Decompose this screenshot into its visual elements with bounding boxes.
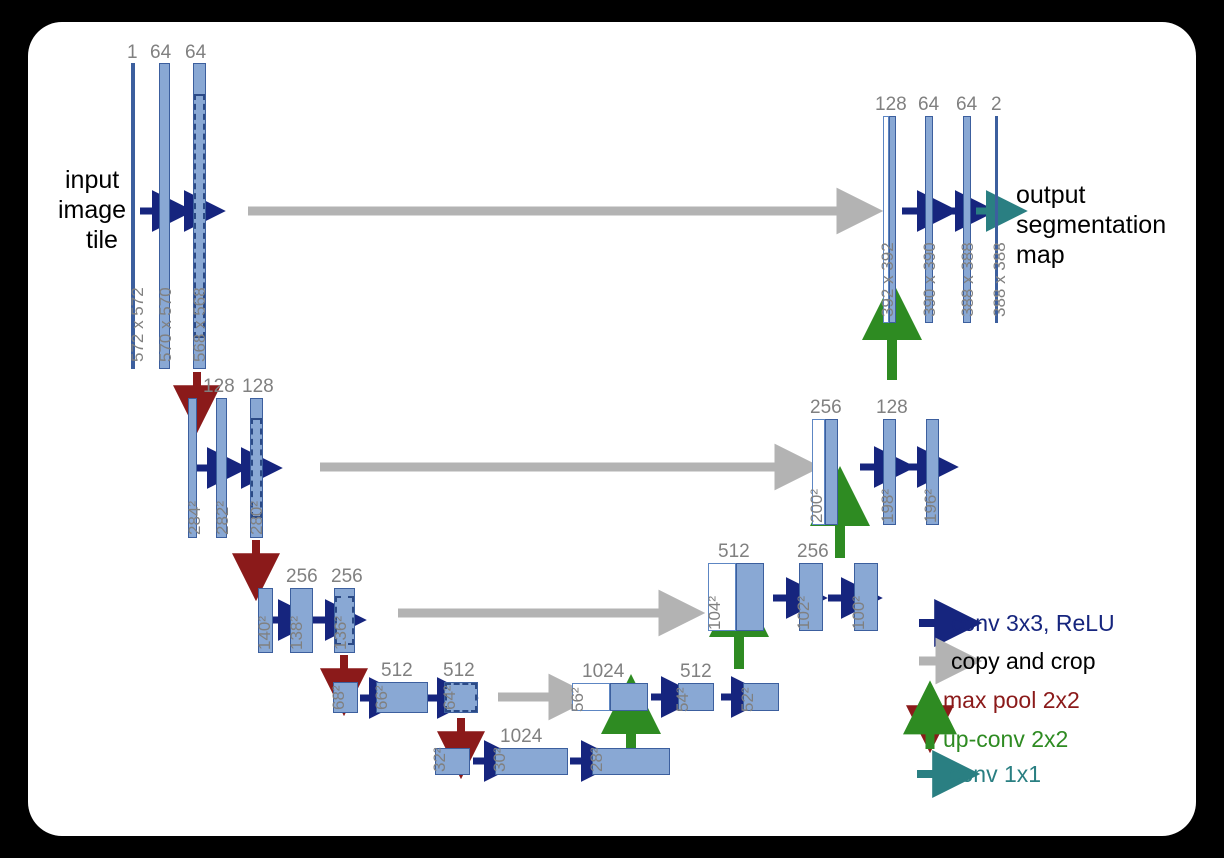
size-label-d2b: 198² <box>879 489 896 523</box>
channel-label-e4c: 512 <box>443 661 475 680</box>
size-label-e5c: 28² <box>588 747 605 772</box>
size-label-d2a: 200² <box>808 489 825 523</box>
channel-label-d1a: 128 <box>875 95 907 114</box>
size-label-e3b: 138² <box>288 616 305 650</box>
size-label-d3a: 104² <box>706 596 723 630</box>
size-label-e1b: 570 x 570 <box>157 287 174 362</box>
size-label-e1a: 572 x 572 <box>129 287 146 362</box>
size-label-e2b: 282² <box>214 501 231 535</box>
size-label-e4c: 64² <box>441 685 458 710</box>
channel-label-e3b: 256 <box>286 567 318 586</box>
channel-label-d2b: 128 <box>876 398 908 417</box>
size-label-d3c: 100² <box>850 596 867 630</box>
channel-label-e3c: 256 <box>331 567 363 586</box>
size-label-e2c: 280² <box>248 501 265 535</box>
size-label-e4b: 66² <box>373 685 390 710</box>
block-d4a-upconv <box>610 683 648 711</box>
block-d3a-upconv <box>736 563 764 631</box>
input-label-line-3: tile <box>86 225 118 255</box>
channel-label-d1c: 64 <box>956 95 977 114</box>
legend-label-conv3x3[interactable]: conv 3x3, ReLU <box>951 612 1115 635</box>
input-label-line-1: input <box>65 165 119 195</box>
output-label-line-1: output <box>1016 180 1086 210</box>
size-label-e2a: 284² <box>186 501 203 535</box>
size-label-d4c: 52² <box>739 687 756 712</box>
legend-label-conv1x1[interactable]: conv 1x1 <box>949 763 1041 786</box>
legend-label-copy-crop[interactable]: copy and crop <box>951 650 1095 673</box>
size-label-e3a: 140² <box>256 616 273 650</box>
output-label-line-2: segmentation <box>1016 210 1166 240</box>
channel-label-e2c: 128 <box>242 377 274 396</box>
block-d2a-upconv <box>825 419 838 525</box>
size-label-d4a: 56² <box>569 687 586 712</box>
channel-label-d4a: 1024 <box>582 662 624 681</box>
channel-label-d1b: 64 <box>918 95 939 114</box>
legend-label-maxpool[interactable]: max pool 2x2 <box>943 689 1080 712</box>
input-label-line-2: image <box>58 195 126 225</box>
size-label-d1d: 388 x 388 <box>991 242 1008 317</box>
size-label-e5b: 30² <box>491 747 508 772</box>
channel-label-e1a: 1 <box>127 43 138 62</box>
channel-label-d1d: 2 <box>991 95 1002 114</box>
size-label-d2c: 196² <box>922 489 939 523</box>
channel-label-e1b: 64 <box>150 43 171 62</box>
size-label-d1b: 390 x 390 <box>921 242 938 317</box>
diagram-canvas: 1 64 64 572 x 572 570 x 570 568 x 568 in… <box>0 0 1224 858</box>
channel-label-d3a: 512 <box>718 542 750 561</box>
size-label-d3b: 102² <box>795 596 812 630</box>
channel-label-d3b: 256 <box>797 542 829 561</box>
channel-label-e1c: 64 <box>185 43 206 62</box>
size-label-e4a: 68² <box>330 685 347 710</box>
size-label-e5a: 32² <box>431 747 448 772</box>
size-label-d4b: 54² <box>674 687 691 712</box>
channel-label-e5b: 1024 <box>500 727 542 746</box>
legend-label-upconv[interactable]: up-conv 2x2 <box>943 728 1068 751</box>
diagram-card: 1 64 64 572 x 572 570 x 570 568 x 568 in… <box>28 22 1196 836</box>
output-label-line-3: map <box>1016 240 1065 270</box>
size-label-e1c: 568 x 568 <box>191 287 208 362</box>
channel-label-d4b: 512 <box>680 662 712 681</box>
channel-label-e2b: 128 <box>203 377 235 396</box>
channel-label-e4b: 512 <box>381 661 413 680</box>
size-label-d1a: 392 x 392 <box>879 242 896 317</box>
channel-label-d2a: 256 <box>810 398 842 417</box>
size-label-e3c: 136² <box>332 616 349 650</box>
size-label-d1c: 388 x 388 <box>959 242 976 317</box>
